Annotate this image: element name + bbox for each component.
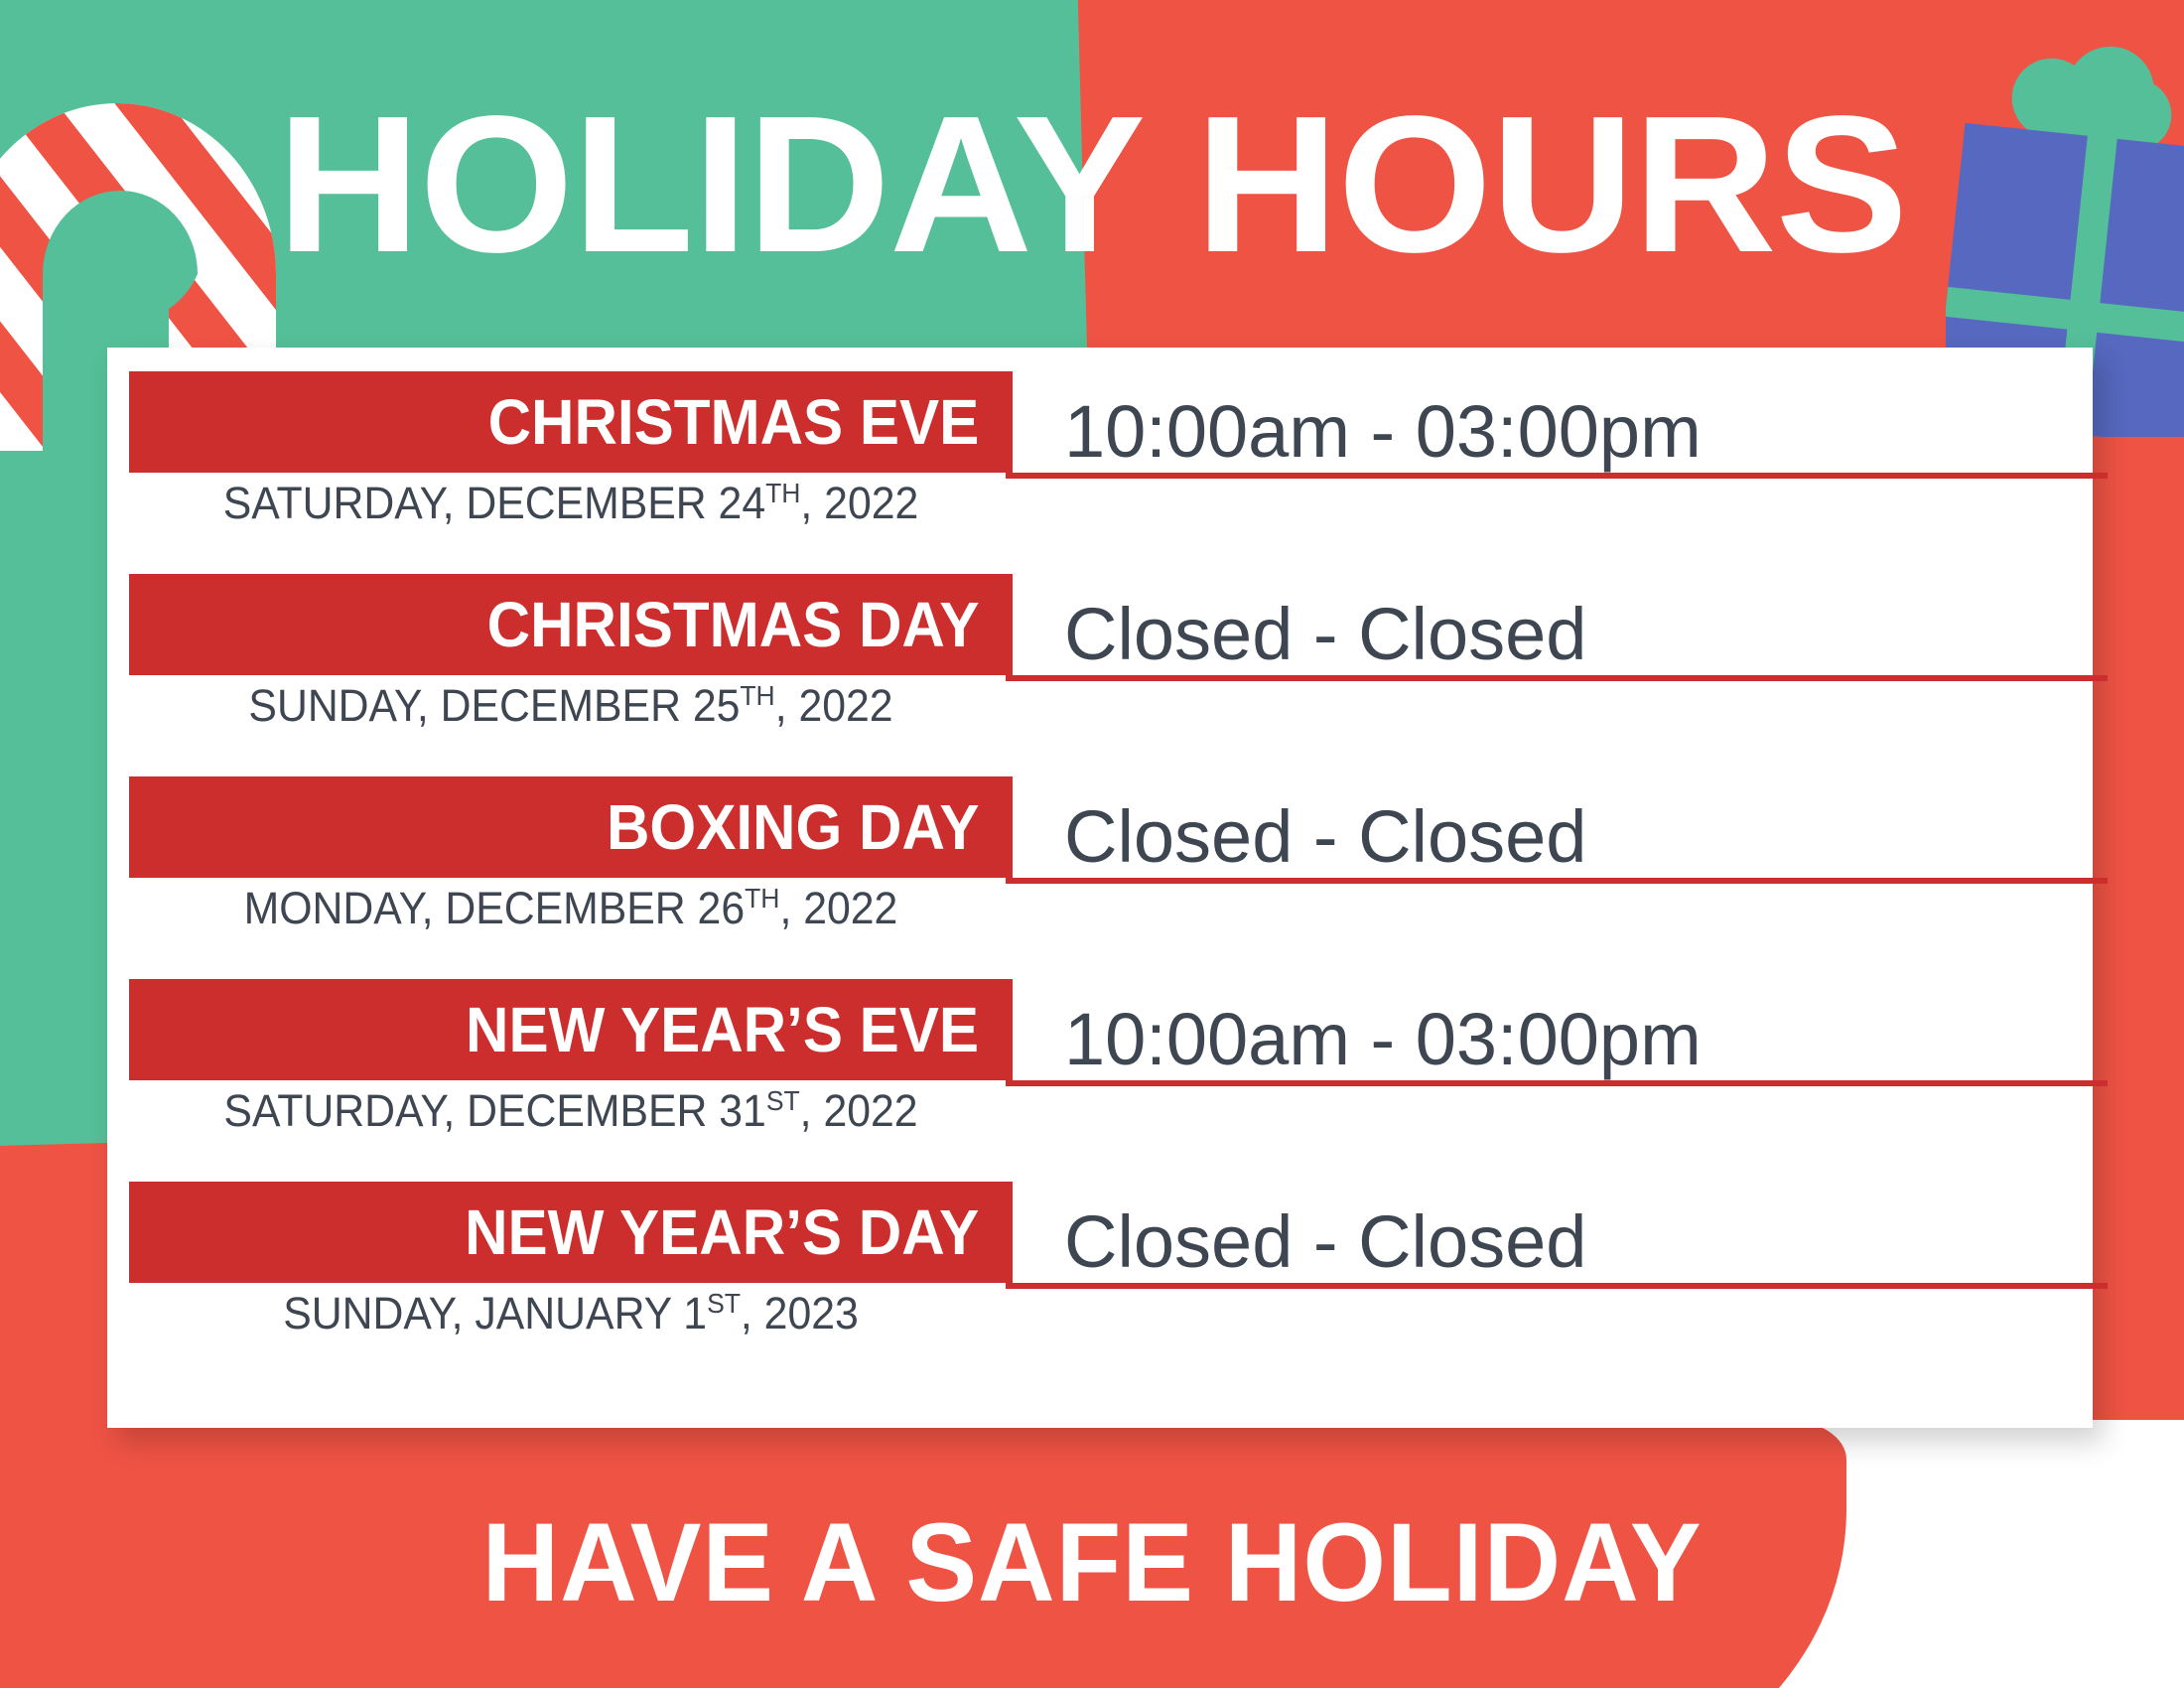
holiday-date-suffix: , 2022 <box>779 883 897 933</box>
holiday-date-prefix: SUNDAY, JANUARY 1 <box>283 1288 707 1338</box>
holiday-name-bar: NEW YEAR’S DAY <box>129 1182 1013 1283</box>
holiday-name: NEW YEAR’S EVE <box>466 998 979 1061</box>
holiday-hours-value: Closed - Closed <box>1064 800 1586 874</box>
holiday-date-prefix: SUNDAY, DECEMBER 25 <box>248 680 740 731</box>
row-underline <box>1006 675 2108 681</box>
holiday-hours: Closed - Closed <box>1052 1158 2065 1283</box>
holiday-name-bar: CHRISTMAS DAY <box>129 574 1013 675</box>
holiday-hours-value: Closed - Closed <box>1064 1205 1586 1279</box>
holiday-hours: Closed - Closed <box>1052 550 2065 675</box>
holiday-date-prefix: SATURDAY, DECEMBER 31 <box>223 1085 765 1136</box>
holiday-name-bar: CHRISTMAS EVE <box>129 371 1013 473</box>
holiday-name: NEW YEAR’S DAY <box>465 1200 979 1264</box>
holiday-date-ordinal: ST <box>766 1085 800 1116</box>
holiday-name: CHRISTMAS EVE <box>487 390 979 454</box>
schedule-card: CHRISTMAS EVE SATURDAY, DECEMBER 24TH, 2… <box>107 348 2093 1428</box>
table-row: CHRISTMAS DAY SUNDAY, DECEMBER 25TH, 202… <box>107 550 2093 753</box>
holiday-hours-value: Closed - Closed <box>1064 598 1586 671</box>
schedule-rows: CHRISTMAS EVE SATURDAY, DECEMBER 24TH, 2… <box>107 348 2093 1366</box>
table-row: BOXING DAY MONDAY, DECEMBER 26TH, 2022 C… <box>107 753 2093 955</box>
footer-message: HAVE A SAFE HOLIDAY <box>44 1507 2140 1618</box>
holiday-hours-value: 10:00am - 03:00pm <box>1064 1003 1702 1076</box>
holiday-date-ordinal: TH <box>740 680 774 711</box>
holiday-date-suffix: , 2023 <box>741 1288 859 1338</box>
table-row: NEW YEAR’S EVE SATURDAY, DECEMBER 31ST, … <box>107 955 2093 1158</box>
holiday-hours: 10:00am - 03:00pm <box>1052 955 2065 1080</box>
row-underline <box>1006 1080 2108 1086</box>
holiday-date: MONDAY, DECEMBER 26TH, 2022 <box>151 884 991 933</box>
row-underline <box>1006 878 2108 884</box>
holiday-date-suffix: , 2022 <box>800 478 918 528</box>
holiday-date: SATURDAY, DECEMBER 24TH, 2022 <box>151 479 991 528</box>
table-row: CHRISTMAS EVE SATURDAY, DECEMBER 24TH, 2… <box>107 348 2093 550</box>
holiday-name: BOXING DAY <box>606 795 979 859</box>
holiday-hours-poster: HOLIDAY HOURS CHRISTMAS EVE SATURDAY, DE… <box>0 0 2184 1688</box>
holiday-hours: 10:00am - 03:00pm <box>1052 348 2065 473</box>
holiday-date: SUNDAY, DECEMBER 25TH, 2022 <box>151 681 991 731</box>
holiday-date-ordinal: TH <box>765 478 800 508</box>
table-row: NEW YEAR’S DAY SUNDAY, JANUARY 1ST, 2023… <box>107 1158 2093 1366</box>
holiday-date-ordinal: ST <box>707 1288 741 1319</box>
holiday-date-suffix: , 2022 <box>775 680 893 731</box>
holiday-date-prefix: SATURDAY, DECEMBER 24 <box>223 478 765 528</box>
holiday-date-suffix: , 2022 <box>800 1085 918 1136</box>
holiday-name-bar: NEW YEAR’S EVE <box>129 979 1013 1080</box>
holiday-date: SUNDAY, JANUARY 1ST, 2023 <box>151 1289 991 1338</box>
holiday-date: SATURDAY, DECEMBER 31ST, 2022 <box>151 1086 991 1136</box>
row-underline <box>1006 473 2108 479</box>
holiday-name: CHRISTMAS DAY <box>486 593 979 656</box>
holiday-hours-value: 10:00am - 03:00pm <box>1064 395 1702 469</box>
holiday-date-prefix: MONDAY, DECEMBER 26 <box>244 883 745 933</box>
holiday-date-ordinal: TH <box>745 883 779 914</box>
holiday-name-bar: BOXING DAY <box>129 776 1013 878</box>
page-title: HOLIDAY HOURS <box>0 87 2184 282</box>
holiday-hours: Closed - Closed <box>1052 753 2065 878</box>
row-underline <box>1006 1283 2108 1289</box>
